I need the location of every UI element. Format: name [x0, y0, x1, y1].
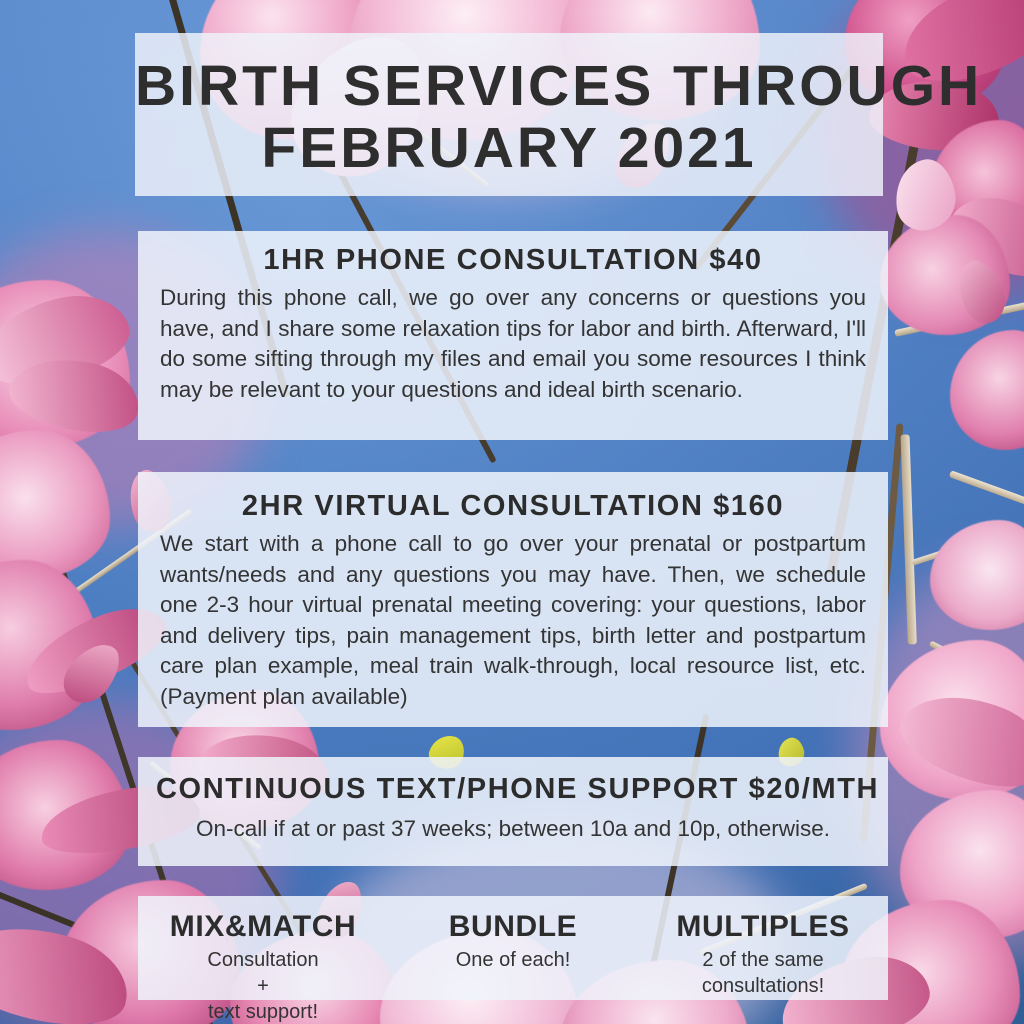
combo-description-line: One of each!: [388, 947, 638, 973]
service-description: During this phone call, we go over any c…: [160, 283, 866, 405]
combo-option-bundle: BUNDLE One of each!: [388, 896, 638, 973]
combo-description: Consultation + text support!: [138, 947, 388, 1024]
combo-description: One of each!: [388, 947, 638, 973]
combo-description-line: 2 of the same: [638, 947, 888, 973]
combo-description-line: text support!: [138, 999, 388, 1024]
title-panel: BIRTH SERVICES THROUGH FEBRUARY 2021: [135, 33, 883, 196]
combo-title: MULTIPLES: [638, 910, 888, 944]
service-description: We start with a phone call to go over yo…: [160, 529, 866, 712]
service-panel-text-phone-support: CONTINUOUS TEXT/PHONE SUPPORT $20/MTH On…: [138, 757, 888, 866]
promotional-flyer: BIRTH SERVICES THROUGH FEBRUARY 2021 1HR…: [0, 0, 1024, 1024]
service-panel-virtual-consultation: 2HR VIRTUAL CONSULTATION $160 We start w…: [138, 472, 888, 727]
combo-title: BUNDLE: [388, 910, 638, 944]
combo-option-mix-and-match: MIX&MATCH Consultation + text support!: [138, 896, 388, 1024]
page-title-line-1: BIRTH SERVICES THROUGH: [135, 55, 883, 117]
combo-title: MIX&MATCH: [138, 910, 388, 944]
service-heading: CONTINUOUS TEXT/PHONE SUPPORT $20/MTH: [156, 772, 870, 806]
combo-option-multiples: MULTIPLES 2 of the same consultations!: [638, 896, 888, 999]
combo-description: 2 of the same consultations!: [638, 947, 888, 999]
service-heading: 2HR VIRTUAL CONSULTATION $160: [160, 489, 866, 523]
combo-description-line: +: [138, 973, 388, 999]
service-heading: 1HR PHONE CONSULTATION $40: [160, 243, 866, 277]
combo-options-panel: MIX&MATCH Consultation + text support! B…: [138, 896, 888, 1000]
service-panel-phone-consultation: 1HR PHONE CONSULTATION $40 During this p…: [138, 231, 888, 440]
combo-description-line: consultations!: [638, 973, 888, 999]
service-description: On-call if at or past 37 weeks; between …: [156, 814, 870, 844]
combo-options-row: MIX&MATCH Consultation + text support! B…: [138, 896, 888, 1000]
page-title-line-2: FEBRUARY 2021: [135, 117, 883, 179]
combo-description-line: Consultation: [138, 947, 388, 973]
